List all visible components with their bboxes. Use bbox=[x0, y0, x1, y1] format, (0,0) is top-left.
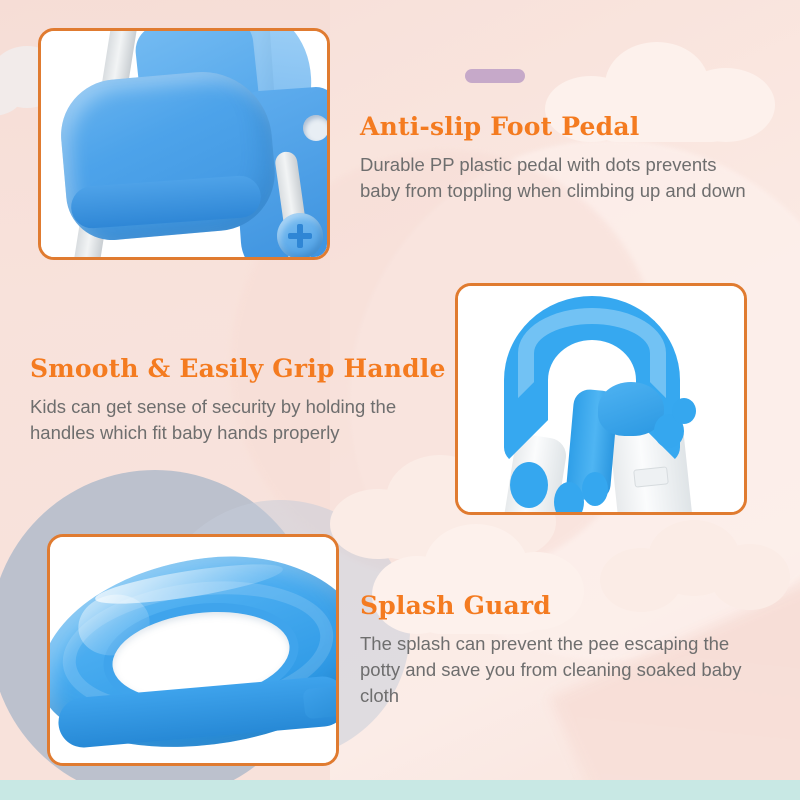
handle-grip-lobe-5 bbox=[672, 398, 696, 424]
lavender-dash-decoration bbox=[465, 69, 525, 83]
bracket-hole bbox=[303, 115, 327, 141]
feature-text-anti-slip-foot-pedal: Anti-slip Foot Pedal Durable PP plastic … bbox=[360, 113, 760, 204]
feature-text-grip-handle: Smooth & Easily Grip Handle Kids can get… bbox=[30, 355, 430, 446]
feature-description-splash-guard: The splash can prevent the pee escaping … bbox=[360, 631, 760, 710]
feature-description-grip-handle: Kids can get sense of security by holdin… bbox=[30, 394, 430, 447]
photo-foot-pedal bbox=[41, 31, 327, 257]
infographic-canvas: Anti-slip Foot Pedal Durable PP plastic … bbox=[0, 0, 800, 800]
seat-side-tab bbox=[303, 685, 336, 720]
photo-splash-guard bbox=[50, 537, 336, 763]
feature-photo-splash-guard bbox=[47, 534, 339, 766]
feature-title-anti-slip-foot-pedal: Anti-slip Foot Pedal bbox=[360, 113, 760, 141]
feature-title-splash-guard: Splash Guard bbox=[360, 592, 760, 620]
tube-adjust-notch bbox=[633, 466, 669, 487]
feature-photo-grip-handle bbox=[455, 283, 747, 515]
bottom-mint-band bbox=[0, 780, 800, 800]
photo-grip-handle bbox=[458, 286, 744, 512]
feature-photo-anti-slip-foot-pedal bbox=[38, 28, 330, 260]
handle-grip-lobe-1 bbox=[510, 462, 548, 508]
cross-screw-icon bbox=[277, 213, 323, 257]
feature-title-grip-handle: Smooth & Easily Grip Handle bbox=[30, 355, 430, 383]
feature-text-splash-guard: Splash Guard The splash can prevent the … bbox=[360, 592, 760, 709]
handle-grip-lobe-3 bbox=[582, 472, 608, 506]
feature-description-anti-slip-foot-pedal: Durable PP plastic pedal with dots preve… bbox=[360, 152, 760, 205]
